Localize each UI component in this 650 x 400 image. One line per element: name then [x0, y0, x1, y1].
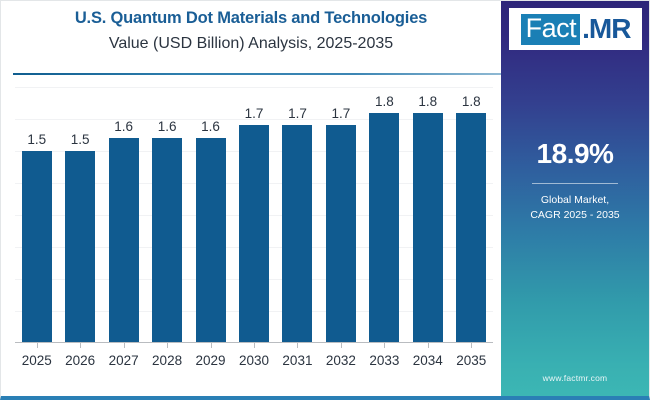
- bar-value-label: 1.5: [55, 132, 105, 147]
- bar-column: 1.7: [326, 87, 356, 343]
- x-axis-tick: [471, 343, 472, 348]
- logo-inner: Fact .MR: [521, 14, 631, 45]
- cagr-caption: Global Market, CAGR 2025 - 2035: [501, 193, 649, 223]
- bar-column: 1.6: [196, 87, 226, 343]
- bar-column: 1.5: [22, 87, 52, 343]
- title-block: U.S. Quantum Dot Materials and Technolog…: [1, 7, 501, 55]
- bar-column: 1.8: [369, 87, 399, 343]
- bar[interactable]: [239, 125, 269, 343]
- x-axis-tick: [211, 343, 212, 348]
- page-title: U.S. Quantum Dot Materials and Technolog…: [1, 7, 501, 29]
- bar-column: 1.7: [239, 87, 269, 343]
- x-axis-tick: [37, 343, 38, 348]
- side-panel: Fact .MR 18.9% Global Market, CAGR 2025 …: [501, 1, 649, 397]
- x-axis-tick: [254, 343, 255, 348]
- cagr-caption-line-1: Global Market,: [501, 193, 649, 208]
- chart-panel: U.S. Quantum Dot Materials and Technolog…: [1, 1, 501, 397]
- x-axis-tick: [297, 343, 298, 348]
- x-axis-tick: [167, 343, 168, 348]
- cagr-caption-line-2: CAGR 2025 - 2035: [501, 208, 649, 223]
- plot-area: 1.51.51.61.61.61.71.71.71.81.81.8: [15, 87, 493, 343]
- bar[interactable]: [282, 125, 312, 343]
- bar[interactable]: [22, 151, 52, 343]
- bar[interactable]: [196, 138, 226, 343]
- bar-value-label: 1.6: [186, 119, 236, 134]
- brand-logo[interactable]: Fact .MR: [509, 8, 642, 50]
- bar[interactable]: [65, 151, 95, 343]
- bar[interactable]: [109, 138, 139, 343]
- bar-value-label: 1.7: [316, 106, 366, 121]
- logo-suffix-text: .MR: [580, 15, 630, 43]
- bar-value-label: 1.8: [446, 94, 496, 109]
- x-axis-tick: [384, 343, 385, 348]
- bar[interactable]: [369, 113, 399, 343]
- cagr-divider: [532, 183, 618, 184]
- x-axis-tick: [428, 343, 429, 348]
- x-axis-tick: [80, 343, 81, 348]
- logo-mark-text: Fact: [521, 14, 581, 45]
- bar-column: 1.8: [413, 87, 443, 343]
- infographic-chart-card: U.S. Quantum Dot Materials and Technolog…: [0, 0, 650, 400]
- x-axis-label: 2035: [445, 353, 497, 368]
- bar-column: 1.6: [152, 87, 182, 343]
- bar[interactable]: [413, 113, 443, 343]
- bar-column: 1.8: [456, 87, 486, 343]
- bar[interactable]: [456, 113, 486, 343]
- cagr-value: 18.9%: [501, 138, 649, 170]
- title-divider: [13, 73, 501, 75]
- bar[interactable]: [152, 138, 182, 343]
- x-axis-tick: [341, 343, 342, 348]
- page-subtitle: Value (USD Billion) Analysis, 2025-2035: [1, 32, 501, 55]
- x-axis-tick: [124, 343, 125, 348]
- bar[interactable]: [326, 125, 356, 343]
- bar-column: 1.7: [282, 87, 312, 343]
- website-url[interactable]: www.factmr.com: [501, 373, 649, 383]
- bar-column: 1.5: [65, 87, 95, 343]
- bar-column: 1.6: [109, 87, 139, 343]
